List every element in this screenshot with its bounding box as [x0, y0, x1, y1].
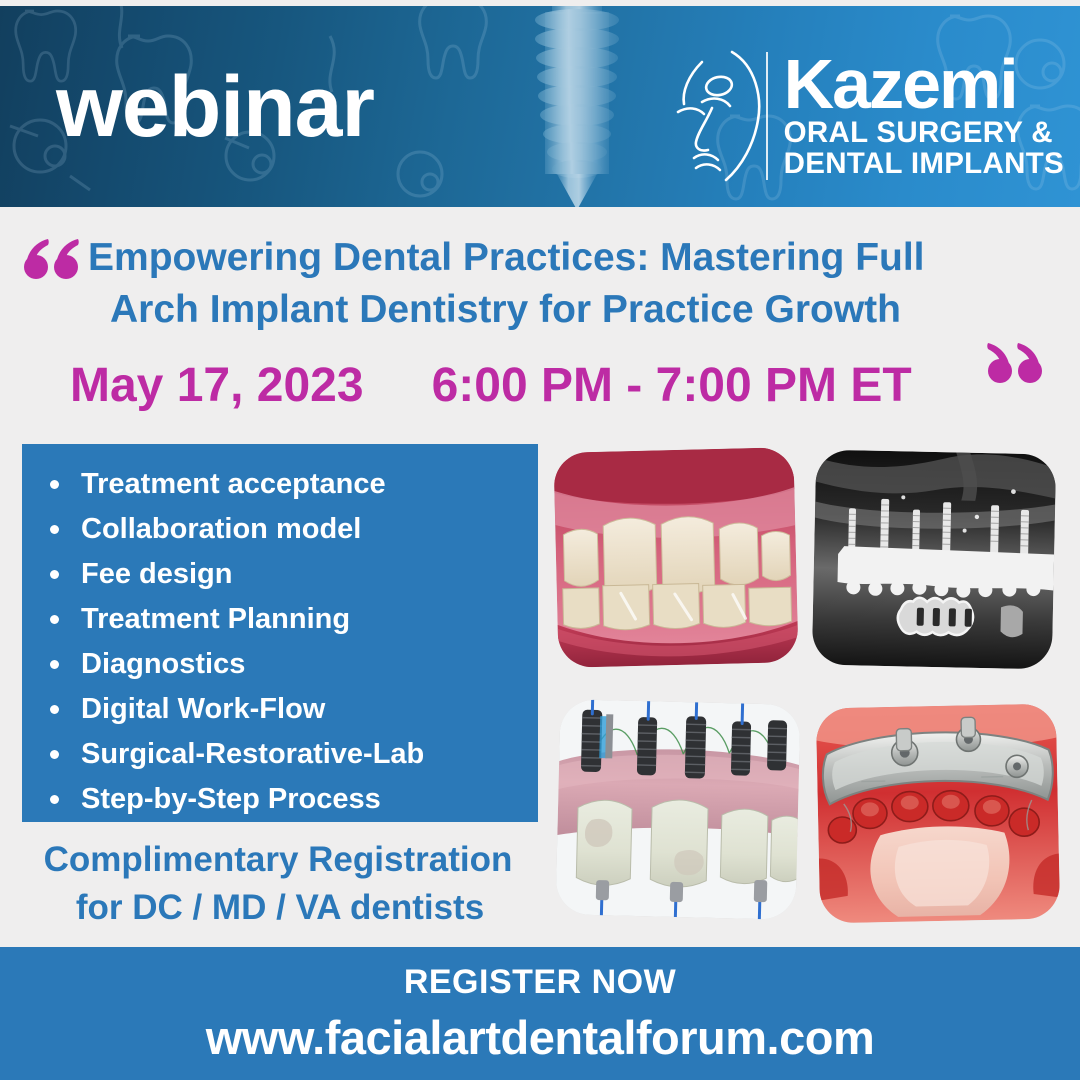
panoramic-xray-photo — [812, 450, 1056, 670]
event-time: 6:00 PM - 7:00 PM ET — [432, 358, 912, 413]
digital-implant-plan-render — [555, 699, 800, 920]
topic-item-label: Collaboration model — [81, 507, 361, 552]
logo-name: Kazemi — [784, 52, 1017, 116]
topic-item: Surgical-Restorative-Lab — [22, 732, 538, 777]
registration-note-line1: Complimentary Registration — [0, 836, 560, 884]
bullet-dot-icon — [50, 570, 59, 579]
header-banner: webinar Kazemi ORAL SURGERY & DENTAL IMP… — [0, 6, 1080, 207]
topic-item-label: Surgical-Restorative-Lab — [81, 732, 424, 777]
dental-implant-screw-icon — [512, 6, 642, 207]
bullet-dot-icon — [50, 525, 59, 534]
title-line-1: Empowering Dental Practices: Mastering F… — [88, 236, 925, 279]
footer-banner: REGISTER NOW www.facialartdentalforum.co… — [0, 947, 1080, 1080]
schedule-row: May 17, 2023 6:00 PM - 7:00 PM ET — [0, 358, 1080, 413]
logo-divider — [766, 52, 768, 180]
topic-item: Collaboration model — [22, 507, 538, 552]
kazemi-logo: Kazemi ORAL SURGERY & DENTAL IMPLANTS — [672, 46, 1064, 186]
bullet-dot-icon — [50, 750, 59, 759]
topic-item: Treatment Planning — [22, 597, 538, 642]
topics-panel: Treatment acceptanceCollaboration modelF… — [22, 444, 538, 822]
bullet-dot-icon — [50, 660, 59, 669]
bullet-dot-icon — [50, 795, 59, 804]
topic-item-label: Fee design — [81, 552, 233, 597]
registration-note: Complimentary Registration for DC / MD /… — [0, 836, 560, 932]
open-quote-icon — [22, 238, 84, 280]
case-photo-gallery — [556, 450, 1064, 930]
registration-url[interactable]: www.facialartdentalforum.com — [206, 1010, 875, 1065]
event-date: May 17, 2023 — [70, 358, 364, 413]
bullet-dot-icon — [50, 705, 59, 714]
bullet-dot-icon — [50, 615, 59, 624]
topic-item: Step-by-Step Process — [22, 777, 538, 822]
topic-item-label: Step-by-Step Process — [81, 777, 381, 822]
registration-note-line2: for DC / MD / VA dentists — [0, 884, 560, 932]
topic-item: Diagnostics — [22, 642, 538, 687]
topic-item-label: Treatment Planning — [81, 597, 350, 642]
topic-item-label: Digital Work-Flow — [81, 687, 325, 732]
topic-item: Fee design — [22, 552, 538, 597]
logo-subtitle-line2: DENTAL IMPLANTS — [784, 148, 1064, 180]
title-line-2: Arch Implant Dentistry for Practice Grow… — [110, 288, 901, 331]
surgical-guide-photo — [816, 704, 1060, 924]
face-profile-icon — [672, 46, 764, 186]
topic-item-label: Treatment acceptance — [81, 462, 386, 507]
webinar-label: webinar — [56, 64, 374, 150]
webinar-title: Empowering Dental Practices: Mastering F… — [0, 232, 1080, 336]
topic-item: Digital Work-Flow — [22, 687, 538, 732]
logo-subtitle-line1: ORAL SURGERY & — [784, 117, 1053, 149]
topics-list: Treatment acceptanceCollaboration modelF… — [22, 462, 538, 822]
register-now-cta[interactable]: REGISTER NOW — [404, 963, 676, 1002]
topic-item: Treatment acceptance — [22, 462, 538, 507]
bullet-dot-icon — [50, 480, 59, 489]
topic-item-label: Diagnostics — [81, 642, 245, 687]
clinical-teeth-photo — [553, 447, 798, 668]
